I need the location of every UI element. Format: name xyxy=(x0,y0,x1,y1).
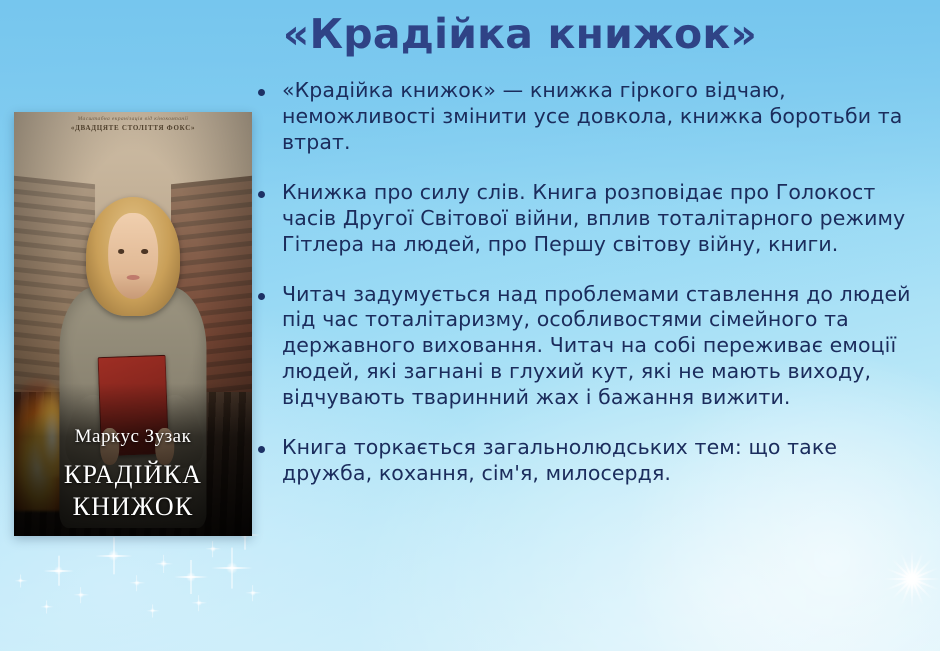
list-item: Книжка про силу слів. Книга розповідає п… xyxy=(252,180,924,258)
sparkle-icon xyxy=(134,580,140,586)
book-title-line1: КРАДІЙКА xyxy=(14,461,252,490)
sparkle-icon xyxy=(150,608,155,613)
bullet-dot-icon xyxy=(258,446,265,453)
slide-root: «Крадійка книжок» Масштабна екранізація xyxy=(0,0,940,651)
slide-title: «Крадійка книжок» xyxy=(150,12,890,56)
book-title-block: Маркус Зузак КРАДІЙКА КНИЖОК xyxy=(14,427,252,522)
book-title-line2: КНИЖОК xyxy=(14,493,252,522)
list-item: «Крадійка книжок» — книжка гіркого відча… xyxy=(252,78,924,156)
bullet-text: «Крадійка книжок» — книжка гіркого відча… xyxy=(282,78,924,156)
sparkle-icon xyxy=(210,546,216,552)
book-author: Маркус Зузак xyxy=(14,427,252,447)
sparkle-icon xyxy=(78,592,84,598)
bullet-text: Книжка про силу слів. Книга розповідає п… xyxy=(282,180,924,258)
book-tagline: Масштабна екранізація від кінокомпанії «… xyxy=(14,116,252,132)
starburst-icon xyxy=(893,560,931,598)
book-tagline-line2: «ДВАДЦЯТЕ СТОЛІТТЯ ФОКС» xyxy=(14,124,252,132)
sparkle-icon xyxy=(108,550,119,561)
sparkle-icon xyxy=(54,566,63,575)
bullet-list: «Крадійка книжок» — книжка гіркого відча… xyxy=(252,78,924,511)
bullet-text: Книга торкається загальнолюдських тем: щ… xyxy=(282,435,924,487)
sparkle-icon xyxy=(196,600,202,606)
bullet-text: Читач задумується над проблемами ставлен… xyxy=(282,282,924,412)
sparkle-icon xyxy=(160,560,167,567)
list-item: Книга торкається загальнолюдських тем: щ… xyxy=(252,435,924,487)
sparkle-icon xyxy=(18,578,23,583)
sparkle-icon xyxy=(186,572,196,582)
sparkle-icon xyxy=(44,604,49,609)
sparkle-icon xyxy=(250,590,256,596)
book-tagline-line1: Масштабна екранізація від кінокомпанії xyxy=(14,116,252,122)
bullet-dot-icon xyxy=(258,89,265,96)
list-item: Читач задумується над проблемами ставлен… xyxy=(252,282,924,412)
sparkle-icon xyxy=(226,562,238,574)
bullet-dot-icon xyxy=(258,293,265,300)
book-cover-image: Масштабна екранізація від кінокомпанії «… xyxy=(14,112,252,536)
bullet-dot-icon xyxy=(258,191,265,198)
